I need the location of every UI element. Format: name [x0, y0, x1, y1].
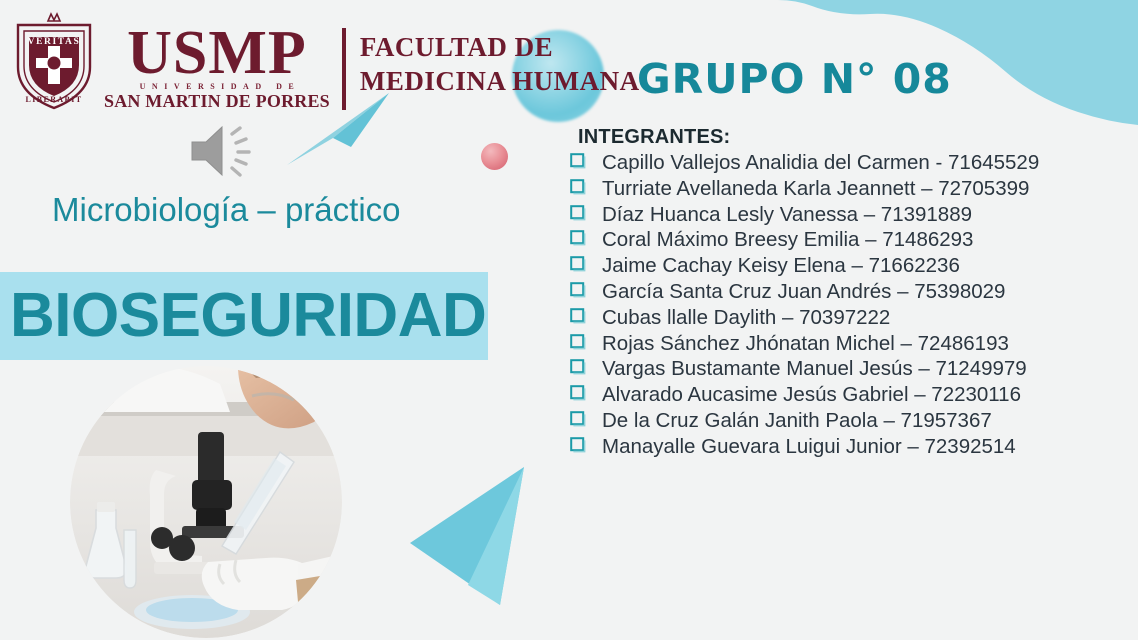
list-item: Turriate Avellaneda Karla Jeannett – 727…	[570, 176, 1090, 202]
checkbox-square-icon	[570, 227, 592, 246]
member-name: Coral Máximo Breesy Emilia – 71486293	[602, 227, 1090, 253]
checkbox-square-icon	[570, 279, 592, 298]
checkbox-square-icon	[570, 202, 592, 221]
logo-university-label: UNIVERSIDAD DE	[140, 82, 301, 91]
list-item: Manayalle Guevara Luigui Junior – 723925…	[570, 434, 1090, 460]
checkbox-square-icon	[570, 434, 592, 453]
speaker-icon[interactable]	[186, 118, 264, 184]
logo-acronym: USMP	[127, 26, 307, 80]
list-item: García Santa Cruz Juan Andrés – 75398029	[570, 279, 1090, 305]
teal-triangle-large-decoration	[404, 455, 579, 615]
member-name: De la Cruz Galán Janith Paola – 71957367	[602, 408, 1090, 434]
list-item: Alvarado Aucasime Jesús Gabriel – 722301…	[570, 382, 1090, 408]
member-name: Turriate Avellaneda Karla Jeannett – 727…	[602, 176, 1090, 202]
checkbox-square-icon	[570, 356, 592, 375]
checkbox-square-icon	[570, 382, 592, 401]
list-item: De la Cruz Galán Janith Paola – 71957367	[570, 408, 1090, 434]
slide-main-title: BIOSEGURIDAD	[10, 283, 480, 349]
member-name: Capillo Vallejos Analidia del Carmen - 7…	[602, 150, 1090, 176]
member-name: Jaime Cachay Keisy Elena – 71662236	[602, 253, 1090, 279]
checkbox-square-icon	[570, 176, 592, 195]
course-subtitle: Microbiología – práctico	[52, 190, 472, 230]
member-name: Rojas Sánchez Jhónatan Michel – 72486193	[602, 331, 1090, 357]
list-item: Rojas Sánchez Jhónatan Michel – 72486193	[570, 331, 1090, 357]
member-name: Vargas Bustamante Manuel Jesús – 7124997…	[602, 356, 1090, 382]
lab-photo	[70, 366, 342, 638]
checkbox-square-icon	[570, 150, 592, 169]
member-name: Cubas llalle Daylith – 70397222	[602, 305, 1090, 331]
member-name: Alvarado Aucasime Jesús Gabriel – 722301…	[602, 382, 1090, 408]
checkbox-square-icon	[570, 305, 592, 324]
member-name: García Santa Cruz Juan Andrés – 75398029	[602, 279, 1090, 305]
list-item: Capillo Vallejos Analidia del Carmen - 7…	[570, 150, 1090, 176]
usmp-logo: VERITAS LIBERABIT USMP UNIVERSIDAD DE SA…	[10, 12, 640, 112]
faculty-line-2: MEDICINA HUMANA	[360, 64, 640, 98]
faculty-line-1: FACULTAD DE	[360, 30, 640, 64]
list-item: Jaime Cachay Keisy Elena – 71662236	[570, 253, 1090, 279]
member-name: Díaz Huanca Lesly Vanessa – 71391889	[602, 202, 1090, 228]
svg-text:LIBERABIT: LIBERABIT	[25, 95, 82, 104]
logo-university-name: SAN MARTIN DE PORRES	[104, 91, 330, 111]
list-item: Díaz Huanca Lesly Vanessa – 71391889	[570, 202, 1090, 228]
group-title: GRUPO N° 08	[637, 56, 952, 102]
checkbox-square-icon	[570, 253, 592, 272]
checkbox-square-icon	[570, 408, 592, 427]
presentation-slide: VERITAS LIBERABIT USMP UNIVERSIDAD DE SA…	[0, 0, 1138, 640]
list-item: Coral Máximo Breesy Emilia – 71486293	[570, 227, 1090, 253]
members-list: Capillo Vallejos Analidia del Carmen - 7…	[570, 150, 1090, 460]
member-name: Manayalle Guevara Luigui Junior – 723925…	[602, 434, 1090, 460]
checkbox-square-icon	[570, 331, 592, 350]
list-item: Cubas llalle Daylith – 70397222	[570, 305, 1090, 331]
list-item: Vargas Bustamante Manuel Jesús – 7124997…	[570, 356, 1090, 382]
members-heading: INTEGRANTES:	[578, 125, 730, 149]
svg-text:VERITAS: VERITAS	[28, 37, 81, 47]
shield-icon: VERITAS LIBERABIT	[10, 12, 98, 112]
pink-sphere-decoration	[481, 143, 508, 170]
logo-divider	[342, 28, 346, 110]
